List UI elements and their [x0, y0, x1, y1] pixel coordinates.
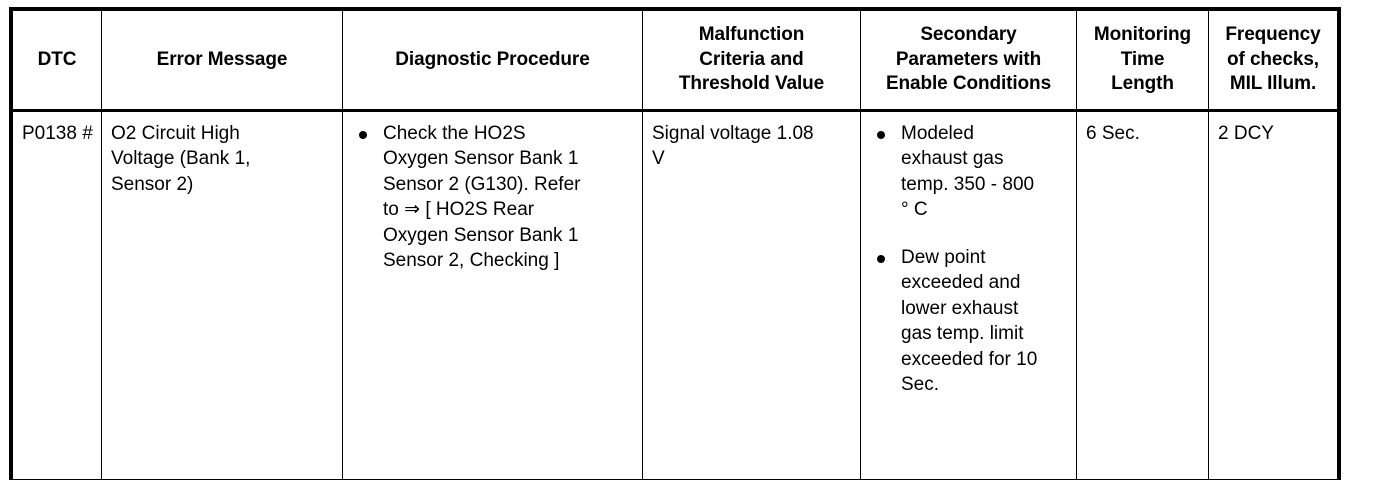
- monitoring-time-length-value: 6 Sec.: [1086, 121, 1200, 146]
- column-header-dtc-line-1: DTC: [17, 48, 97, 73]
- secondary-parameters-bullet-2-line-5: exceeded for 10: [901, 347, 1068, 372]
- secondary-parameters-bullet-1: Modeled exhaust gas temp. 350 - 800 ° C: [870, 121, 1068, 223]
- column-header-diagnostic-procedure-line-1: Diagnostic Procedure: [347, 48, 638, 73]
- frequency-of-checks-value: 2 DCY: [1218, 121, 1329, 146]
- column-header-secondary-parameters-line-1: Secondary: [865, 23, 1072, 48]
- column-header-malfunction-criteria: Malfunction Criteria and Threshold Value: [643, 11, 861, 111]
- diagnostic-procedure-bullet-1-line-6: Sensor 2, Checking ]: [383, 248, 634, 273]
- column-header-monitoring-time-length-line-2: Time: [1081, 48, 1204, 73]
- diagnostic-procedure-bullet-1-line-4: to ⇒ [ HO2S Rear: [383, 197, 634, 222]
- table-row: P0138 # O2 Circuit High Voltage (Bank 1,…: [13, 111, 1338, 480]
- secondary-parameters-bullet-1-line-2: exhaust gas: [901, 146, 1068, 171]
- cell-error-message: O2 Circuit High Voltage (Bank 1, Sensor …: [102, 111, 343, 480]
- cell-diagnostic-procedure: Check the HO2S Oxygen Sensor Bank 1 Sens…: [343, 111, 643, 480]
- cell-secondary-parameters: Modeled exhaust gas temp. 350 - 800 ° C …: [861, 111, 1077, 480]
- column-header-malfunction-criteria-line-1: Malfunction: [647, 23, 856, 48]
- column-header-error-message: Error Message: [102, 11, 343, 111]
- secondary-parameters-bullet-2-line-1: Dew point: [901, 245, 1068, 270]
- column-header-frequency-of-checks: Frequency of checks, MIL Illum.: [1209, 11, 1338, 111]
- table-body: P0138 # O2 Circuit High Voltage (Bank 1,…: [13, 111, 1338, 480]
- column-header-secondary-parameters-line-3: Enable Conditions: [865, 72, 1072, 97]
- diagnostic-procedure-bullet-list: Check the HO2S Oxygen Sensor Bank 1 Sens…: [352, 121, 634, 274]
- column-header-secondary-parameters: Secondary Parameters with Enable Conditi…: [861, 11, 1077, 111]
- table-header: DTC Error Message Diagnostic Procedure M…: [13, 11, 1338, 111]
- cell-frequency-of-checks: 2 DCY: [1209, 111, 1338, 480]
- secondary-parameters-bullet-1-line-4: ° C: [901, 197, 1068, 222]
- secondary-parameters-bullet-2-line-2: exceeded and: [901, 270, 1068, 295]
- column-header-monitoring-time-length-line-3: Length: [1081, 72, 1204, 97]
- malfunction-criteria-line-1: Signal voltage 1.08: [652, 121, 852, 146]
- column-header-diagnostic-procedure: Diagnostic Procedure: [343, 11, 643, 111]
- diagnostic-procedure-bullet-1: Check the HO2S Oxygen Sensor Bank 1 Sens…: [352, 121, 634, 274]
- column-header-malfunction-criteria-line-3: Threshold Value: [647, 72, 856, 97]
- error-message-line-3: Sensor 2): [111, 172, 334, 197]
- diagnostic-procedure-bullet-1-line-1: Check the HO2S: [383, 121, 634, 146]
- secondary-parameters-bullet-2-line-4: gas temp. limit: [901, 321, 1068, 346]
- column-header-frequency-of-checks-line-3: MIL Illum.: [1213, 72, 1333, 97]
- cell-dtc-code: P0138 #: [13, 111, 102, 480]
- cell-malfunction-criteria: Signal voltage 1.08 V: [643, 111, 861, 480]
- secondary-parameters-bullet-2-line-6: Sec.: [901, 372, 1068, 397]
- secondary-parameters-bullet-2: Dew point exceeded and lower exhaust gas…: [870, 245, 1068, 398]
- secondary-parameters-bullet-list: Modeled exhaust gas temp. 350 - 800 ° C …: [870, 121, 1068, 398]
- column-header-malfunction-criteria-line-2: Criteria and: [647, 48, 856, 73]
- table-header-row: DTC Error Message Diagnostic Procedure M…: [13, 11, 1338, 111]
- column-header-frequency-of-checks-line-2: of checks,: [1213, 48, 1333, 73]
- diagnostic-procedure-bullet-1-line-3: Sensor 2 (G130). Refer: [383, 172, 634, 197]
- malfunction-criteria-line-2: V: [652, 146, 852, 171]
- secondary-parameters-bullet-1-line-1: Modeled: [901, 121, 1068, 146]
- diagnostic-procedure-bullet-1-line-2: Oxygen Sensor Bank 1: [383, 146, 634, 171]
- error-message-line-1: O2 Circuit High: [111, 121, 334, 146]
- column-header-dtc: DTC: [13, 11, 102, 111]
- dtc-code-value: P0138 #: [22, 121, 93, 146]
- page-canvas: DTC Error Message Diagnostic Procedure M…: [0, 0, 1376, 460]
- column-header-secondary-parameters-line-2: Parameters with: [865, 48, 1072, 73]
- error-message-line-2: Voltage (Bank 1,: [111, 146, 334, 171]
- column-header-frequency-of-checks-line-1: Frequency: [1213, 23, 1333, 48]
- diagnostic-procedure-bullet-1-line-5: Oxygen Sensor Bank 1: [383, 223, 634, 248]
- dtc-diagnostic-table: DTC Error Message Diagnostic Procedure M…: [12, 10, 1338, 480]
- cell-monitoring-time-length: 6 Sec.: [1077, 111, 1209, 480]
- column-header-error-message-line-1: Error Message: [106, 48, 338, 73]
- column-header-monitoring-time-length: Monitoring Time Length: [1077, 11, 1209, 111]
- secondary-parameters-bullet-1-line-3: temp. 350 - 800: [901, 172, 1068, 197]
- column-header-monitoring-time-length-line-1: Monitoring: [1081, 23, 1204, 48]
- secondary-parameters-bullet-2-line-3: lower exhaust: [901, 296, 1068, 321]
